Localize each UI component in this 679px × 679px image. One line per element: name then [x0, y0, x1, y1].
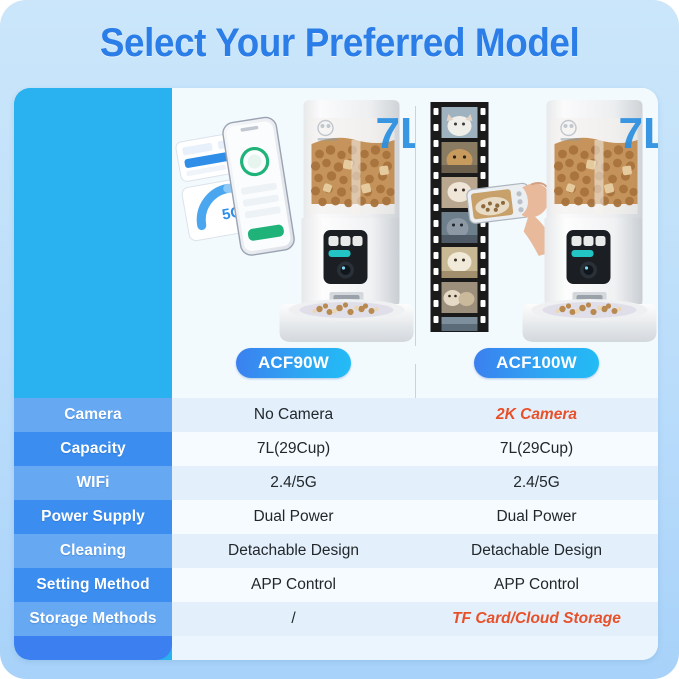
label-column-header-cell: [14, 88, 172, 346]
row-value-wifi-acf100w: 2.4/5G: [415, 466, 658, 500]
row-value-camera-acf100w: 2K Camera: [415, 398, 658, 432]
product-image-acf100w: 7L: [415, 88, 658, 346]
row-label-storage-methods: Storage Methods: [14, 602, 172, 636]
row-value-power-supply-acf90w: Dual Power: [172, 500, 415, 534]
table-row-capacity: Capacity 7L(29Cup) 7L(29Cup): [14, 432, 658, 466]
feeder-with-phone-app-illustration: 5G: [172, 88, 415, 346]
comparison-infographic: Select Your Preferred Model: [0, 0, 679, 679]
row-value-camera-acf90w: No Camera: [172, 398, 415, 432]
row-value-setting-method-acf100w: APP Control: [415, 568, 658, 602]
table-row-power-supply: Power Supply Dual Power Dual Power: [14, 500, 658, 534]
row-label-capacity: Capacity: [14, 432, 172, 466]
svg-text:7L: 7L: [619, 109, 659, 158]
row-value-capacity-acf90w: 7L(29Cup): [172, 432, 415, 466]
row-label-wifi: WIFi: [14, 466, 172, 500]
table-row-setting-method: Setting Method APP Control APP Control: [14, 568, 658, 602]
table-row-storage-methods: Storage Methods / TF Card/Cloud Storage: [14, 602, 658, 636]
svg-text:7L: 7L: [376, 109, 416, 158]
card-footer-filler: [172, 636, 658, 660]
model-badge-acf90w[interactable]: ACF90W: [236, 348, 351, 378]
model-badge-row: ACF90W ACF100W: [14, 346, 658, 398]
row-label-cleaning: Cleaning: [14, 534, 172, 568]
spec-table: Camera No Camera 2K Camera Capacity 7L(2…: [14, 398, 658, 636]
label-column-footer-cap: [14, 636, 172, 660]
product-image-acf90w: 5G: [172, 88, 415, 346]
row-value-wifi-acf90w: 2.4/5G: [172, 466, 415, 500]
row-label-power-supply: Power Supply: [14, 500, 172, 534]
row-value-storage-methods-acf90w: /: [172, 602, 415, 636]
row-label-setting-method: Setting Method: [14, 568, 172, 602]
row-value-cleaning-acf90w: Detachable Design: [172, 534, 415, 568]
table-row-camera: Camera No Camera 2K Camera: [14, 398, 658, 432]
row-label-camera: Camera: [14, 398, 172, 432]
row-value-setting-method-acf90w: APP Control: [172, 568, 415, 602]
table-row-wifi: WIFi 2.4/5G 2.4/5G: [14, 466, 658, 500]
badge-cell-acf90w: ACF90W: [172, 346, 415, 398]
page-title-text: Select Your Preferred Model: [100, 21, 580, 66]
comparison-card: 5G: [14, 88, 658, 660]
product-image-row: 5G: [14, 88, 658, 346]
badge-cell-acf100w: ACF100W: [415, 346, 658, 398]
row-value-capacity-acf100w: 7L(29Cup): [415, 432, 658, 466]
row-value-cleaning-acf100w: Detachable Design: [415, 534, 658, 568]
label-column-badge-cell: [14, 346, 172, 398]
feeder-with-filmstrip-illustration: 7L: [415, 88, 658, 346]
page-title: Select Your Preferred Model: [0, 8, 679, 78]
card-footer-strip: [14, 636, 658, 660]
row-value-storage-methods-acf100w: TF Card/Cloud Storage: [415, 602, 658, 636]
row-value-power-supply-acf100w: Dual Power: [415, 500, 658, 534]
table-row-cleaning: Cleaning Detachable Design Detachable De…: [14, 534, 658, 568]
model-badge-acf100w[interactable]: ACF100W: [474, 348, 599, 378]
